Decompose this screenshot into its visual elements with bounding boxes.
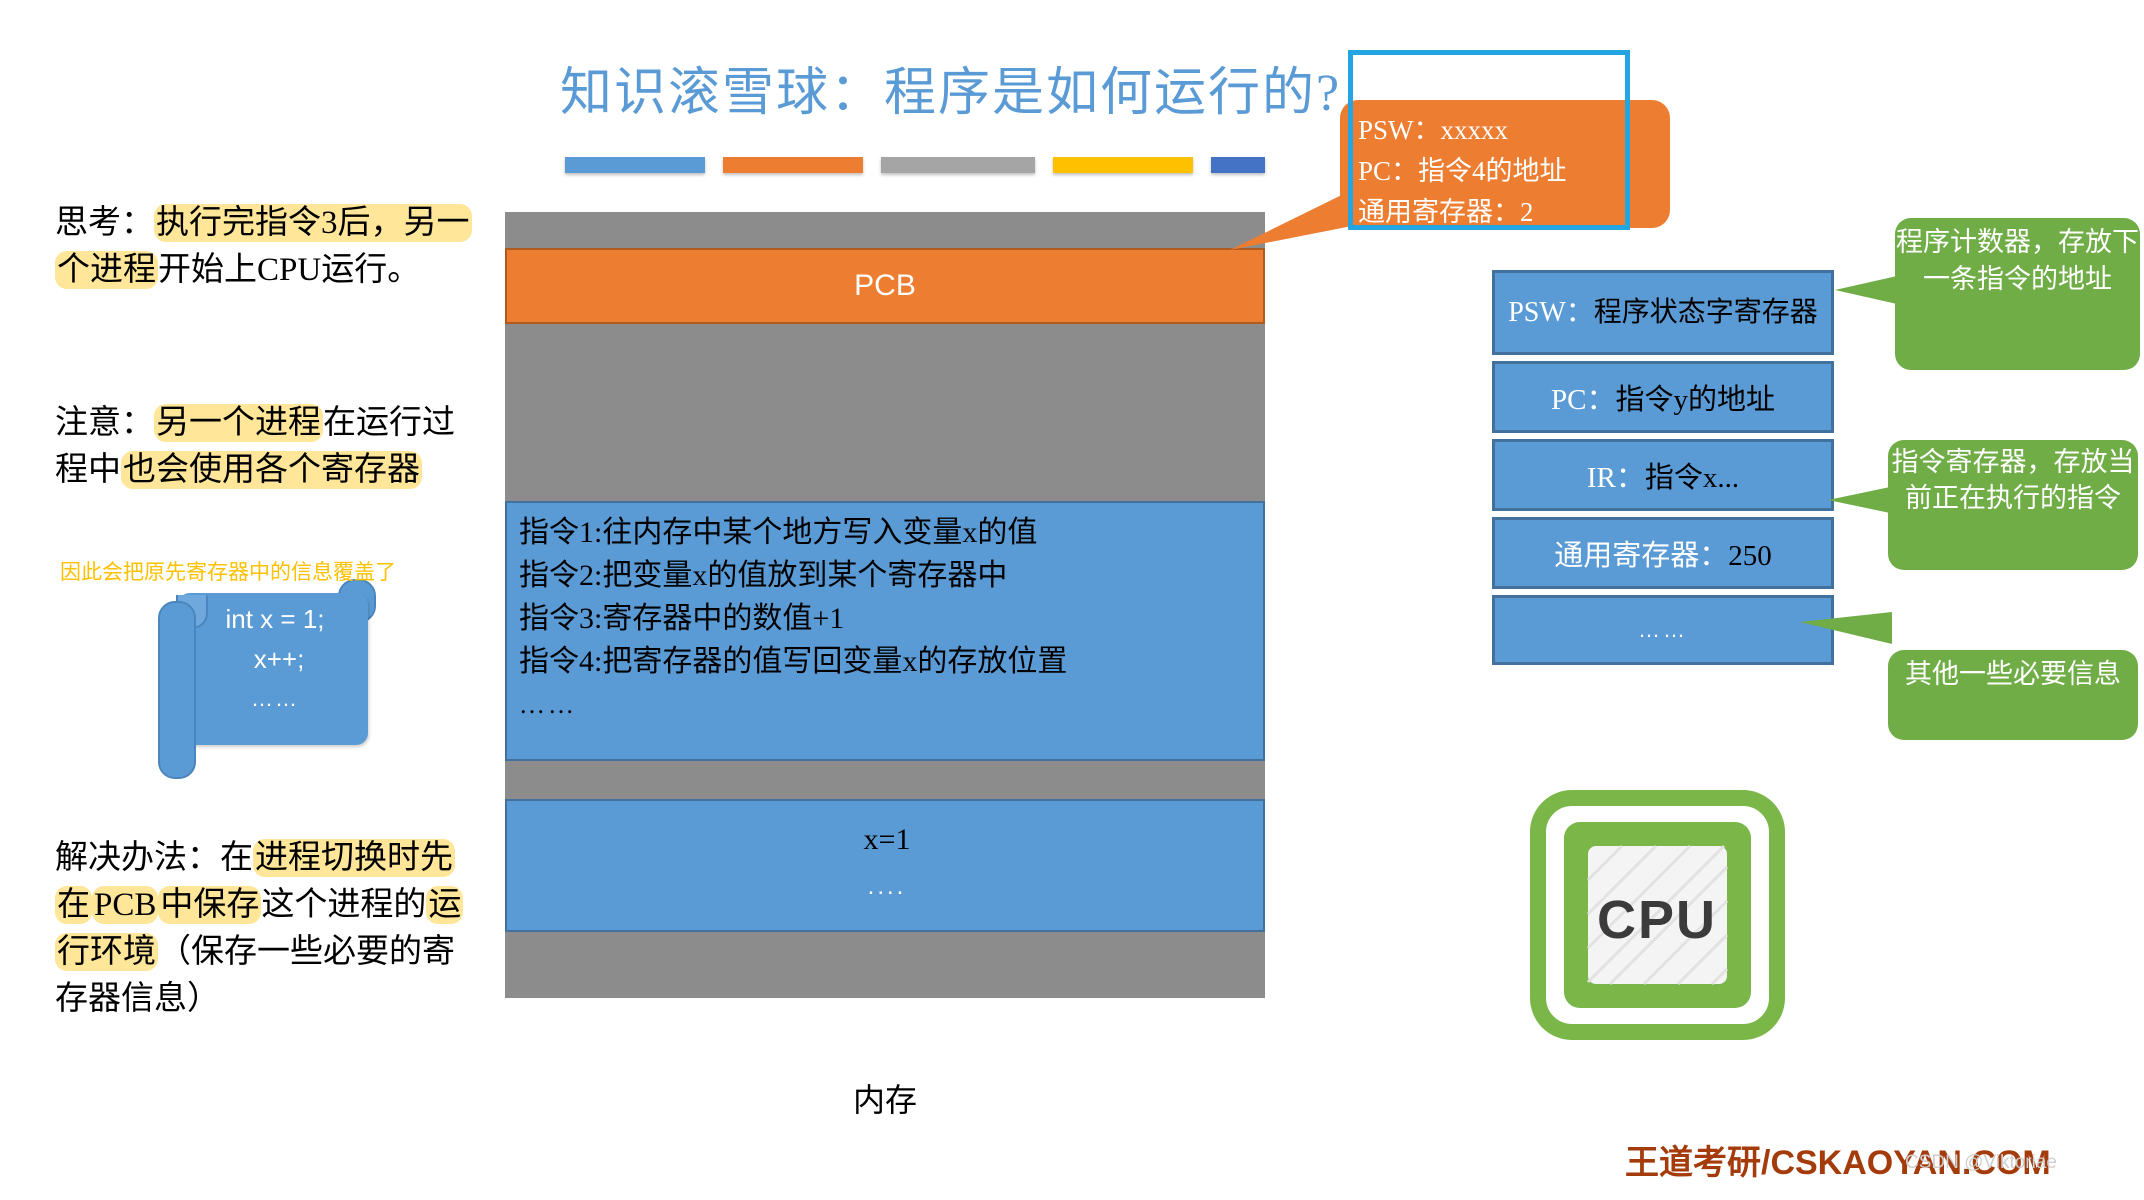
highlight-frame — [1348, 50, 1630, 230]
register-pc-key: PC： — [1551, 384, 1615, 416]
note-solution-prefix: 解决办法：在 — [55, 840, 253, 876]
memory-data-more: .... — [507, 873, 1267, 901]
note-notice: 注意：另一个进程在运行过程中也会使用各个寄存器 — [55, 400, 475, 494]
green-callout-3-tail — [1800, 612, 1892, 644]
accent-bar-darkblue — [1211, 157, 1265, 173]
instruction-more: …… — [519, 683, 1259, 726]
note-overwrite: 因此会把原先寄存器中的信息覆盖了 — [60, 556, 530, 586]
register-ir-content: IR：指令x... — [1495, 454, 1831, 496]
green-callout-1-tail — [1835, 276, 1897, 304]
register-etc-value: …… — [1495, 617, 1831, 643]
note-think-rest: 开始上CPU运行。 — [158, 252, 420, 288]
note-notice-highlight-2: 也会使用各个寄存器 — [121, 451, 422, 489]
accent-bar-gray — [881, 157, 1035, 173]
memory-diagram: PCB 指令1:往内存中某个地方写入变量x的值 指令2:把变量x的值放到某个寄存… — [505, 212, 1265, 1052]
note-solution-highlight-2: 中保存 — [158, 886, 261, 924]
note-notice-highlight-1: 另一个进程 — [154, 404, 323, 442]
watermark: CSDN @Viktoriae — [1905, 1152, 2057, 1174]
register-ir-key: IR： — [1587, 462, 1645, 494]
register-general-value: 250 — [1728, 540, 1772, 572]
register-row-etc: …… — [1492, 595, 1834, 665]
cpu-icon-label: CPU — [1597, 890, 1717, 950]
instruction-1: 指令1:往内存中某个地方写入变量x的值 — [519, 511, 1259, 554]
accent-bar-orange — [723, 157, 863, 173]
register-row-general: 通用寄存器：250 — [1492, 517, 1834, 589]
memory-segment-data: x=1 .... — [505, 799, 1265, 932]
green-callout-pc: 程序计数器，存放下一条指令的地址 — [1895, 218, 2140, 370]
accent-bar-yellow — [1053, 157, 1193, 173]
memory-caption: 内存 — [505, 1075, 1265, 1121]
register-psw-content: PSW：程序状态字寄存器 — [1495, 296, 1831, 330]
code-line-1: int x = 1; — [194, 599, 356, 639]
memory-data-value: x=1 — [507, 823, 1267, 857]
register-general-key: 通用寄存器： — [1554, 540, 1728, 572]
register-general-content: 通用寄存器：250 — [1495, 532, 1831, 574]
instruction-4: 指令4:把寄存器的值写回变量x的存放位置 — [519, 640, 1259, 683]
instruction-2: 指令2:把变量x的值放到某个寄存器中 — [519, 554, 1259, 597]
green-callout-2-tail — [1828, 487, 1890, 513]
cpu-icon: CPU — [1530, 790, 1785, 1040]
register-psw-key: PSW： — [1508, 297, 1594, 328]
scroll-code-text: int x = 1; x++; …… — [194, 599, 356, 719]
register-pc-content: PC：指令y的地址 — [1495, 376, 1831, 418]
note-think: 思考：执行完指令3后，另一个进程开始上CPU运行。 — [55, 200, 475, 294]
note-think-prefix: 思考： — [55, 205, 154, 241]
memory-segment-bottom — [505, 932, 1265, 998]
register-pc-value: 指令y的地址 — [1615, 384, 1775, 416]
note-notice-prefix: 注意： — [55, 405, 154, 441]
code-line-2: x++; — [194, 639, 356, 679]
code-scroll-shape: int x = 1; x++; …… — [158, 585, 368, 775]
memory-segment-program-code: 指令1:往内存中某个地方写入变量x的值 指令2:把变量x的值放到某个寄存器中 指… — [505, 501, 1265, 761]
memory-segment-pcb: PCB — [505, 248, 1265, 324]
scroll-roll-left — [158, 601, 196, 779]
code-line-3: …… — [194, 679, 356, 719]
memory-segment-top — [505, 212, 1265, 248]
memory-segment-gap-1 — [505, 324, 1265, 501]
register-row-ir: IR：指令x... — [1492, 439, 1834, 511]
note-solution: 解决办法：在进程切换时先在PCB中保存这个进程的运行环境（保存一些必要的寄存器信… — [55, 835, 475, 1023]
register-row-psw: PSW：程序状态字寄存器 — [1492, 270, 1834, 355]
register-psw-value: 程序状态字寄存器 — [1594, 297, 1818, 328]
pcb-label: PCB — [507, 250, 1263, 322]
accent-bar-blue — [565, 157, 705, 173]
instruction-list: 指令1:往内存中某个地方写入变量x的值 指令2:把变量x的值放到某个寄存器中 指… — [519, 511, 1259, 726]
green-callout-other: 其他一些必要信息 — [1888, 650, 2138, 740]
title-accent-bars — [565, 157, 1265, 173]
note-solution-pcb: PCB — [92, 886, 158, 924]
green-callout-ir: 指令寄存器，存放当前正在执行的指令 — [1888, 440, 2138, 570]
memory-segment-gap-2 — [505, 761, 1265, 799]
instruction-3: 指令3:寄存器中的数值+1 — [519, 597, 1259, 640]
register-ir-value: 指令x... — [1645, 462, 1739, 494]
register-row-pc: PC：指令y的地址 — [1492, 361, 1834, 433]
cpu-register-list: PSW：程序状态字寄存器 PC：指令y的地址 IR：指令x... 通用寄存器：2… — [1492, 270, 1834, 671]
note-solution-mid: 这个进程的 — [261, 887, 426, 923]
